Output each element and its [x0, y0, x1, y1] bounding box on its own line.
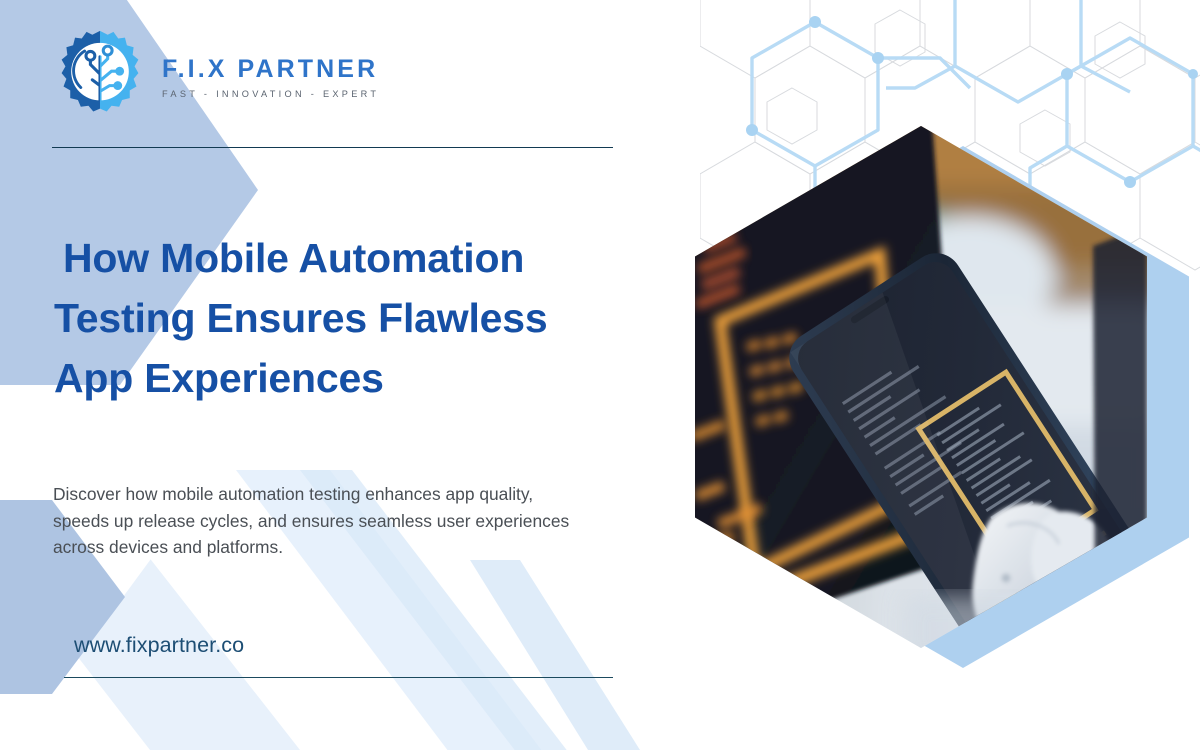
headline-line-1: How Mobile Automation — [54, 228, 654, 288]
gear-circuit-logo-icon — [52, 28, 148, 124]
body-line-1: Discover how mobile automation testing e… — [53, 481, 693, 508]
chevron-band-edge — [470, 560, 640, 750]
description-text: Discover how mobile automation testing e… — [53, 481, 693, 561]
brand-name: F.I.X PARTNER — [162, 57, 379, 82]
brand-wordmark: F.I.X PARTNER FAST - INNOVATION - EXPERT — [162, 53, 379, 99]
brand-logo[interactable]: F.I.X PARTNER FAST - INNOVATION - EXPERT — [52, 28, 379, 124]
body-line-3: across devices and platforms. — [53, 534, 693, 561]
brand-tagline: FAST - INNOVATION - EXPERT — [162, 89, 379, 99]
footer-divider — [64, 677, 613, 678]
page-title: How Mobile Automation Testing Ensures Fl… — [54, 228, 654, 408]
headline-line-3: App Experiences — [54, 348, 654, 408]
poster-canvas: F.I.X PARTNER FAST - INNOVATION - EXPERT… — [0, 0, 1200, 750]
headline-line-2: Testing Ensures Flawless — [54, 288, 654, 348]
website-url[interactable]: www.fixpartner.co — [74, 633, 244, 658]
body-line-2: speeds up release cycles, and ensures se… — [53, 508, 693, 535]
header-divider — [52, 147, 613, 148]
